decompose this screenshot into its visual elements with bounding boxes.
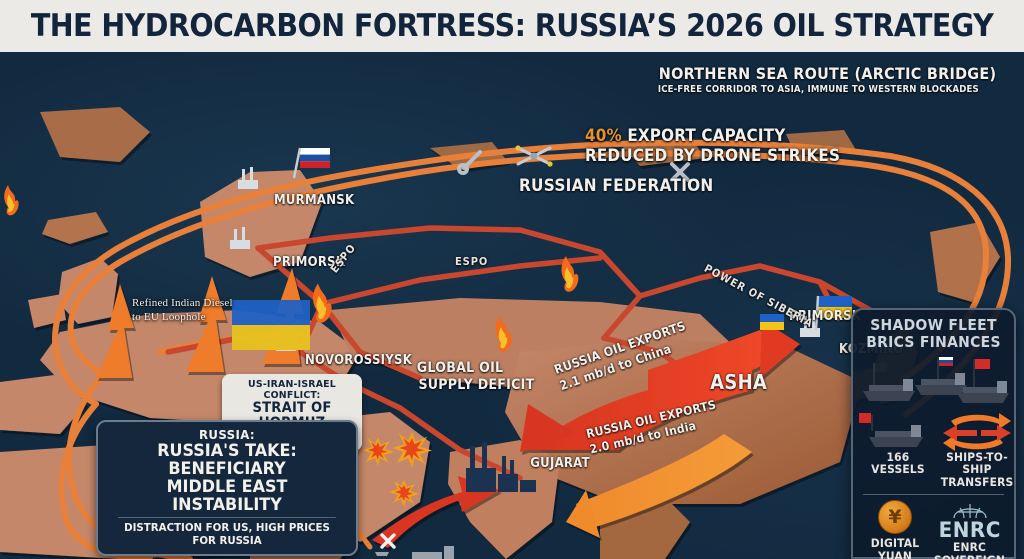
strike-line2: REDUCED BY DRONE STRIKES <box>585 146 840 165</box>
hormuz-box-line1: US-IRAN-ISRAEL CONFLICT: <box>235 379 350 401</box>
city-label-gujarat: GUJARAT <box>530 456 590 471</box>
pipeline-label-espo-central: ESPO <box>455 255 488 268</box>
arctic-route-subtitle: ICE-FREE CORRIDOR TO ASIA, IMMUNE TO WES… <box>658 84 979 95</box>
infographic-canvas: NORTHERN SEA ROUTE (ARCTIC BRIDGE) ICE-F… <box>0 0 1024 559</box>
panel-divider <box>863 494 1004 495</box>
russia-take-line1: RUSSIA: <box>117 427 337 442</box>
ship-to-ship-caption-2: TRANSFERS <box>941 476 1014 489</box>
russia-take-line3: MIDDLE EAST INSTABILITY <box>117 478 337 514</box>
city-label-murmansk: MURMANSK <box>274 193 354 208</box>
ship-to-ship-block: SHIPS-TO-SHIP TRANSFERS <box>937 413 1017 490</box>
panel-title-line1: SHADOW FLEET <box>870 316 997 334</box>
enrc-block: ENRC ENRC SOVEREIGN INSURANCE <box>931 500 1008 559</box>
ship-to-ship-icon <box>937 413 1017 451</box>
city-label-novorossiysk: NOVOROSSIYSK <box>305 353 412 368</box>
global-deficit-line2: SUPPLY DEFICIT <box>418 377 534 393</box>
note-refined-diesel: Refined Indian Diesel to EU Loophole <box>132 297 233 325</box>
vessels-block: 166 VESSELS <box>859 413 937 490</box>
ship-to-ship-caption-1: SHIPS-TO-SHIP <box>940 451 1014 477</box>
tanker-icon-single <box>859 413 937 451</box>
russia-take-footer: DISTRACTION FOR US, HIGH PRICES FOR RUSS… <box>118 517 336 547</box>
country-label-russia: RUSSIAN FEDERATION <box>519 176 714 196</box>
flag-ukraine-primorsk <box>760 314 784 330</box>
title-bar: THE HYDROCARBON FORTRESS: RUSSIA’S 2026 … <box>0 0 1024 52</box>
vessels-caption: 166 VESSELS <box>862 451 935 477</box>
strike-percent: 40% <box>585 126 622 145</box>
yuan-coin-icon: ¥ <box>878 500 912 534</box>
drone-strike-note: 40% EXPORT CAPACITY REDUCED BY DRONE STR… <box>585 126 862 165</box>
enrc-caption-1: ENRC SOVEREIGN <box>934 541 1006 559</box>
panel-title-line2: BRICS FINANCES <box>866 333 1001 351</box>
region-label-asha: ASHA <box>710 370 767 394</box>
enrc-wordmark: ENRC <box>938 520 1000 541</box>
flag-ukraine-crimea <box>232 300 310 350</box>
tanker-fleet-row-1 <box>859 355 1012 417</box>
world-map: NORTHERN SEA ROUTE (ARCTIC BRIDGE) ICE-F… <box>0 52 1024 559</box>
cargo-ship-icon <box>398 546 462 559</box>
russia-take-box: RUSSIA: RUSSIA'S TAKE: BENEFICIARY MIDDL… <box>96 420 358 556</box>
shadow-fleet-panel: SHADOW FLEET BRICS FINANCES <box>851 308 1016 559</box>
digital-yuan-block: ¥ DIGITAL YUAN PAYMENTS <box>859 500 931 559</box>
small-boat-icon <box>375 552 389 556</box>
page-title: THE HYDROCARBON FORTRESS: RUSSIA’S 2026 … <box>31 8 993 44</box>
global-deficit-line1: GLOBAL OIL <box>417 360 504 376</box>
russia-take-line2: RUSSIA'S TAKE: BENEFICIARY <box>117 442 337 478</box>
strike-line1: EXPORT CAPACITY <box>622 126 785 145</box>
yuan-caption-1: DIGITAL YUAN <box>862 537 929 559</box>
yuan-symbol: ¥ <box>888 506 901 528</box>
note-refined-diesel-text: Refined Indian Diesel to EU Loophole <box>132 297 233 323</box>
arctic-route-title: NORTHERN SEA ROUTE (ARCTIC BRIDGE) <box>659 64 997 83</box>
